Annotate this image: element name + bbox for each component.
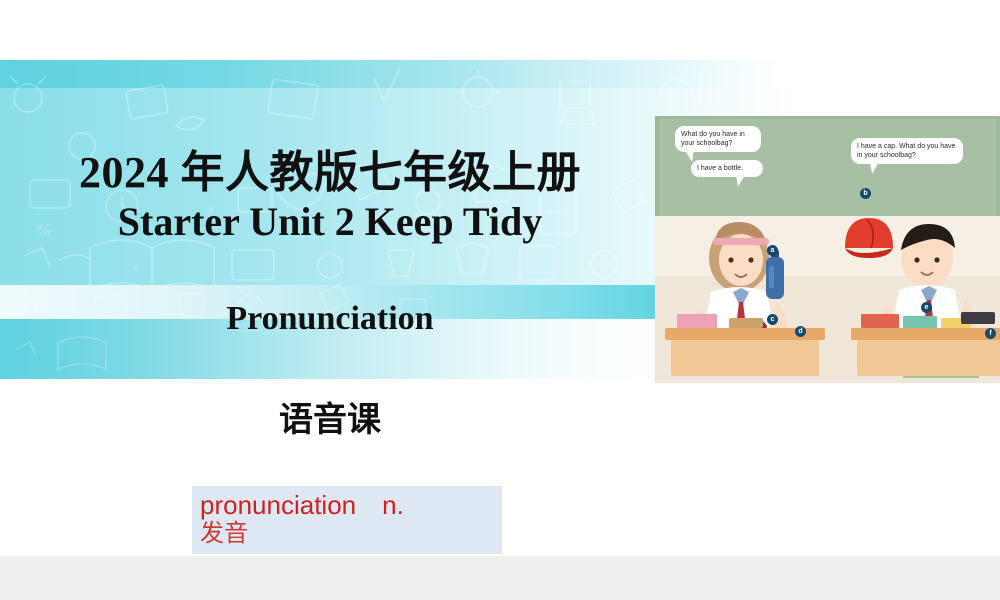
vocabulary-callout: pronunciationn. 发音: [192, 486, 502, 554]
classroom-illustration: What do you have in your schoolbag? I ha…: [655, 116, 1000, 383]
page-title-chinese: 2024 年人教版七年级上册: [30, 136, 630, 200]
marker-e: e: [921, 302, 932, 313]
red-book: [861, 314, 899, 328]
desk-right-top: [851, 328, 1000, 340]
speech-bubble-1: What do you have in your schoolbag?: [675, 126, 761, 152]
marker-c: c: [767, 314, 778, 325]
main-slide: % ? x 2024 年人教版七年级上册 Starter Unit 2 Keep…: [0, 0, 1000, 556]
desk-right: [857, 340, 1000, 376]
vocabulary-word-line: pronunciationn.: [200, 490, 502, 520]
vocabulary-meaning: 发音: [200, 520, 502, 548]
pencil-case: [729, 318, 763, 328]
marker-b: b: [860, 188, 871, 199]
teal-book: [903, 316, 937, 328]
page-subtitle-chinese: 语音课: [30, 392, 630, 441]
page-subtitle-english: Pronunciation: [30, 300, 630, 338]
black-pencil-case: [961, 312, 995, 324]
marker-a: a: [767, 245, 778, 256]
speech-bubble-3: I have a cap. What do you have in your s…: [851, 138, 963, 164]
speech-bubble-2: I have a bottle.: [691, 160, 763, 177]
thumbnail-strip: 本课学习目标 Review Review 请将 26 个字母中含有共同元音音素的…: [0, 556, 1000, 600]
pink-notebook: [677, 314, 717, 328]
desk-left: [671, 340, 819, 376]
vocabulary-part-of-speech: n.: [382, 490, 404, 520]
marker-f: f: [985, 328, 996, 339]
water-bottle: [763, 250, 787, 302]
page-title-english: Starter Unit 2 Keep Tidy: [30, 198, 630, 245]
marker-d: d: [795, 326, 806, 337]
red-cap: [837, 208, 901, 272]
vocabulary-word: pronunciation: [200, 490, 356, 520]
slide-stage: % ? x 2024 年人教版七年级上册 Starter Unit 2 Keep…: [0, 0, 1000, 600]
